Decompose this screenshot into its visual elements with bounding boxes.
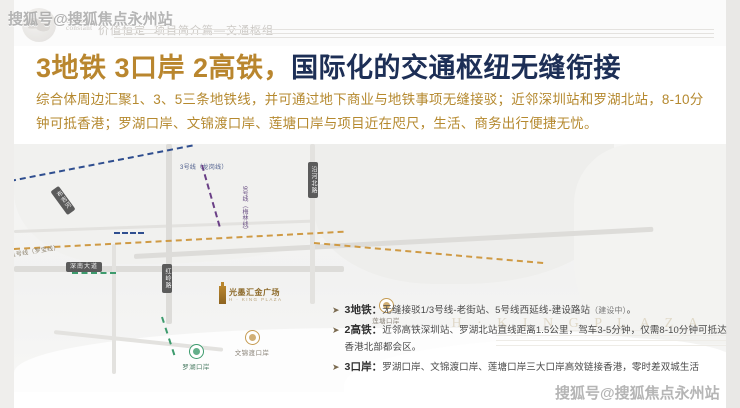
arrow-icon: ➤ — [332, 302, 340, 319]
header-rule-lines — [114, 27, 714, 39]
map-pin-icon — [245, 330, 260, 345]
slide-root: Center constant 价值恒定 项目简介篇—交通枢组 3地铁 3口岸 … — [0, 0, 740, 408]
bullet-head: 3地铁： — [345, 304, 383, 316]
map-project-name-cn: 光墨汇金广场 — [229, 288, 282, 297]
bullet-head: 3口岸： — [345, 361, 383, 373]
map-project-names: 光墨汇金广场 H · KING PLAZA — [229, 288, 282, 302]
left-rail — [0, 0, 14, 408]
map-metro-line-5 — [72, 272, 116, 274]
bullet-note: （建设中） — [590, 306, 627, 315]
watermark-top: 搜狐号@搜狐焦点永州站 — [8, 8, 173, 29]
map-poi-label: 文锦渡口岸 — [222, 347, 282, 357]
bullet-text: 3口岸：罗湖口岸、文锦渡口岸、莲塘口岸三大口岸高效链接香港，零时差双城生活 — [345, 359, 700, 376]
tower-icon — [219, 286, 226, 304]
bullet-tail: 。 — [627, 305, 637, 316]
map-road-label-shennan: 深南大道 — [66, 262, 102, 272]
map-poi-label: 罗湖口岸 — [166, 361, 226, 371]
bullet-item-highspeed-rail: ➤ 2高铁：近邻高铁深圳站、罗湖北站直线距离1.5公里，驾车3-5分钟，仅需8-… — [332, 322, 732, 356]
map-poi-wenjindu-port[interactable]: 文锦渡口岸 — [222, 330, 282, 357]
page-title-navy: 国际化的交通枢纽无缝衔接 — [291, 53, 621, 83]
map-pin-icon — [189, 344, 204, 359]
watermark-bottom: 搜狐号@搜狐焦点永州站 — [555, 382, 720, 403]
map-project-name-en: H · KING PLAZA — [229, 297, 282, 302]
map-metro-label-9: 9号线（梅林线） — [240, 186, 249, 234]
bullet-item-ports: ➤ 3口岸：罗湖口岸、文锦渡口岸、莲塘口岸三大口岸高效链接香港，零时差双城生活 — [332, 359, 732, 376]
bullet-body: 近邻高铁深圳站、罗湖北站直线距离1.5公里，驾车3-5分钟，仅需8-10分钟可抵… — [345, 325, 727, 353]
arrow-icon: ➤ — [332, 322, 340, 339]
map-road-horizontal-main — [14, 266, 344, 272]
map-road-label-hongling: 红岭路 — [162, 264, 172, 293]
transit-bullet-list: ➤ 3地铁：无缝接驳1/3号线-老街站、5号线西延线-建设路站（建设中）。 ➤ … — [332, 302, 732, 379]
map-metro-line-1 — [114, 232, 144, 234]
map-landmass-north-east — [314, 144, 614, 284]
bullet-head: 2高铁： — [345, 324, 383, 336]
bullet-text: 3地铁：无缝接驳1/3号线-老街站、5号线西延线-建设路站（建设中）。 — [345, 302, 637, 319]
page-title-gold: 3地铁 3口岸 2高铁， — [36, 53, 291, 83]
bullet-body: 罗湖口岸、文锦渡口岸、莲塘口岸三大口岸高效链接香港，零时差双城生活 — [382, 362, 699, 373]
map-project-marker[interactable]: 光墨汇金广场 H · KING PLAZA — [219, 286, 282, 304]
bullet-item-metro: ➤ 3地铁：无缝接驳1/3号线-老街站、5号线西延线-建设路站（建设中）。 — [332, 302, 732, 319]
map-metro-label-1: 1号线（罗宝线） — [14, 242, 60, 258]
map-road-vertical-hongling — [166, 144, 172, 324]
arrow-icon: ➤ — [332, 359, 340, 376]
bullet-body: 无缝接驳1/3号线-老街站、5号线西延线-建设路站 — [382, 305, 590, 316]
map-road-vertical-east — [112, 244, 116, 374]
map-road-label-yanhe: 沿河北路 — [308, 162, 318, 198]
map-metro-label-3: 3号线（龙岗线） — [180, 162, 228, 171]
intro-paragraph: 综合体周边汇聚1、3、5三条地铁线，并可通过地下商业与地铁事项无缝接驳；近邻深圳… — [36, 88, 712, 136]
page-title: 3地铁 3口岸 2高铁，国际化的交通枢纽无缝衔接 — [36, 46, 621, 85]
bullet-text: 2高铁：近邻高铁深圳站、罗湖北站直线距离1.5公里，驾车3-5分钟，仅需8-10… — [345, 322, 732, 356]
map-poi-luohu-port[interactable]: 罗湖口岸 — [166, 344, 226, 371]
